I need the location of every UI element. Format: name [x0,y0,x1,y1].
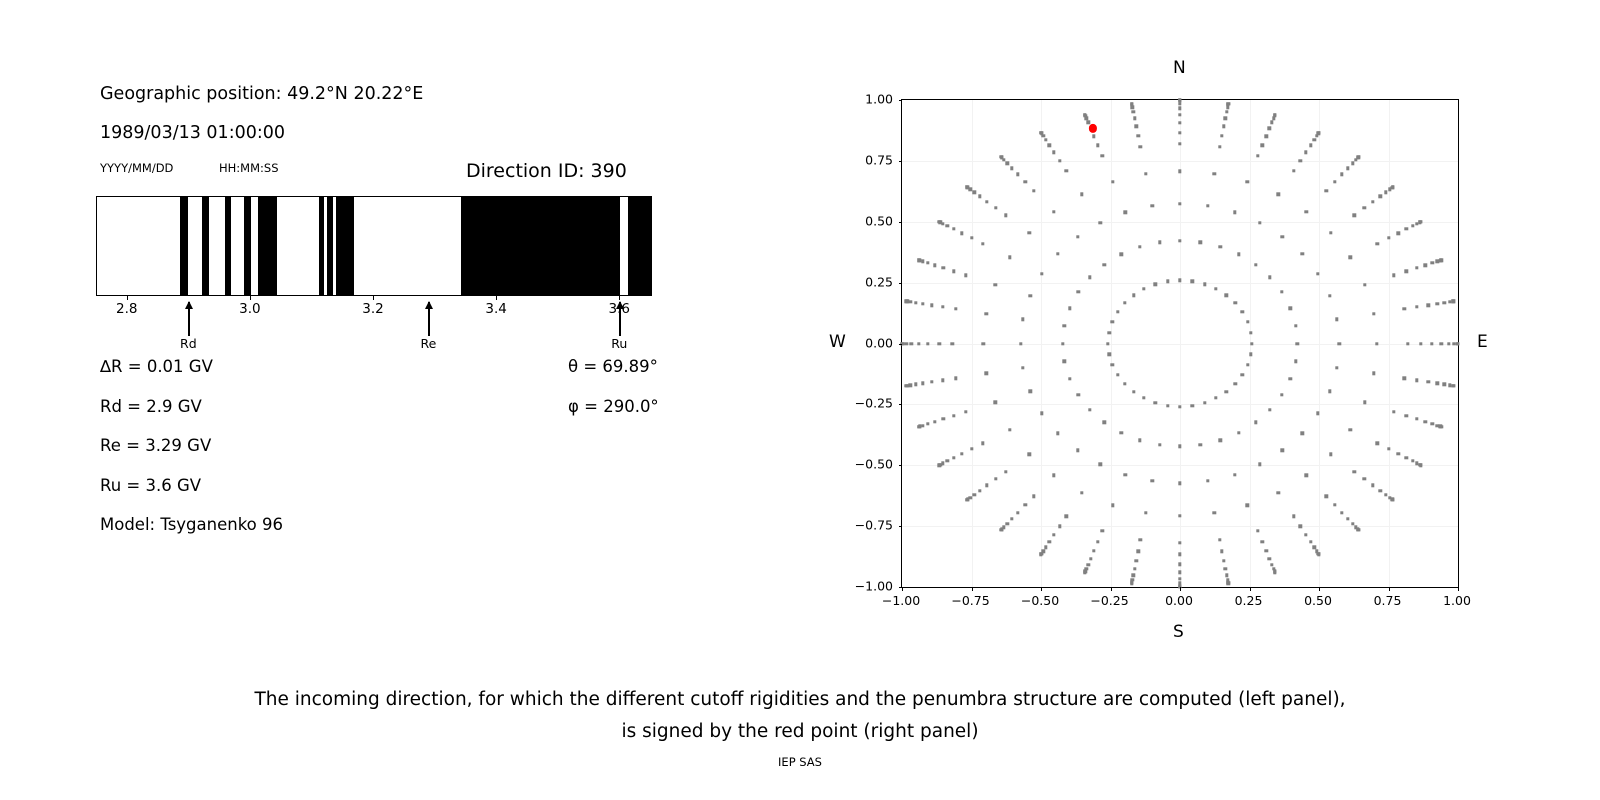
direction-point [1391,185,1394,188]
direction-point [1328,294,1331,297]
direction-point [1346,517,1349,520]
direction-point [1294,360,1297,363]
polar-y-tick [899,465,903,466]
direction-point [1100,529,1103,532]
direction-point [1028,390,1031,393]
polar-x-tick [972,587,973,591]
direction-point [1340,511,1343,514]
direction-point [1384,493,1387,496]
penumbra-forbidden-band [628,197,651,295]
polar-y-tick-label: 0.00 [843,335,893,350]
polar-x-tick [1389,587,1390,591]
direction-point [1277,491,1280,494]
direction-point [946,459,949,462]
direction-point [1452,384,1455,387]
direction-point [1296,342,1299,345]
direction-point [1363,401,1366,404]
polar-x-tick-label: 1.00 [1443,593,1471,608]
direction-point [1086,563,1089,566]
direction-point [921,382,924,385]
direction-point [1317,131,1320,134]
direction-point [952,414,955,417]
direction-point [1254,263,1257,266]
direction-point [994,206,997,209]
penumbra-panel: Geographic position: 49.2°N 20.22°E 1989… [0,0,800,680]
direction-point [970,447,973,450]
direction-point [1439,425,1442,428]
penumbra-param-left: Rd = 2.9 GV [100,397,202,416]
direction-point [1456,342,1459,345]
direction-point [938,342,941,345]
direction-point [1178,131,1181,134]
direction-point [1424,264,1427,267]
direction-point [1289,377,1292,380]
direction-point [1154,401,1157,404]
direction-point [1300,432,1303,435]
direction-point [1452,300,1455,303]
direction-point [1132,110,1135,113]
direction-point [1092,549,1095,552]
direction-point [970,236,973,239]
direction-point [1039,131,1042,134]
direction-point [1396,231,1399,234]
direction-point [1233,382,1236,385]
direction-point [1220,549,1223,552]
direction-point [1443,383,1446,386]
direction-point [1006,522,1009,525]
direction-point [1124,211,1127,214]
polar-x-tick-label: 0.75 [1374,593,1402,608]
direction-point [978,195,981,198]
polar-x-tick-label: 0.50 [1304,593,1332,608]
direction-point [1246,363,1249,366]
direction-point [1096,540,1099,543]
grid-line-horizontal [902,222,1458,223]
compass-north-label: N [1173,58,1186,78]
direction-point [1052,151,1055,154]
direction-point [1281,449,1284,452]
direction-point [1166,280,1169,283]
direction-point [1224,116,1227,119]
direction-point [1280,393,1283,396]
direction-point [1237,431,1240,434]
direction-point [1058,159,1061,162]
direction-point [1325,495,1328,498]
direction-point [1024,180,1027,183]
direction-point [1249,353,1252,356]
direction-point [1292,169,1295,172]
direction-point [964,410,967,413]
grid-line-horizontal [902,161,1458,162]
direction-point [1391,498,1394,501]
direction-point [1335,318,1338,321]
direction-point [1178,514,1181,517]
direction-point [1083,113,1086,116]
direction-point [1116,310,1119,313]
direction-point [1016,511,1019,514]
direction-point [1103,421,1106,424]
penumbra-forbidden-band [244,197,251,295]
direction-point [1329,231,1332,234]
direction-point [938,464,941,467]
direction-point [1270,563,1273,566]
polar-x-tick [1319,587,1320,591]
polar-x-tick-label: −0.75 [951,593,989,608]
polar-y-tick-label: 1.00 [843,92,893,107]
polar-direction-plot [901,99,1459,588]
direction-point [1372,372,1375,375]
direction-point [1309,540,1312,543]
direction-point [1044,545,1047,548]
direction-point [1264,134,1267,137]
direction-point [1443,301,1446,304]
penumbra-allowed-gap [454,197,461,295]
direction-point [1151,204,1154,207]
direction-point [1044,138,1047,141]
direction-point [930,303,933,306]
direction-point [909,383,912,386]
direction-point [1222,124,1225,127]
direction-point [1281,235,1284,238]
direction-point [1430,342,1433,345]
direction-point [1406,342,1409,345]
direction-point [1063,324,1066,327]
direction-point [1299,524,1302,527]
direction-point [965,498,968,501]
direction-point [1103,263,1106,266]
marker-label: Ru [611,336,627,351]
direction-point [1124,473,1127,476]
polar-y-tick [899,100,903,101]
polar-y-tick-label: −1.00 [843,579,893,594]
direction-point [926,342,929,345]
direction-point [921,424,924,427]
direction-point [1135,559,1138,562]
polar-x-tick [902,587,903,591]
direction-point [981,442,984,445]
direction-point [1136,134,1139,137]
direction-point [1064,169,1067,172]
polar-x-tick [1180,587,1181,591]
direction-point [973,191,976,194]
direction-point [1203,401,1206,404]
direction-point [1076,235,1079,238]
direction-point [1439,259,1442,262]
penumbra-param-right: θ = 69.89° [568,357,658,376]
penumbra-spectrum-bar [96,196,652,296]
polar-x-tick [1041,587,1042,591]
direction-point [952,270,955,273]
direction-point [1028,294,1031,297]
direction-point [960,452,963,455]
direction-point [1004,214,1007,217]
polar-y-tick [899,222,903,223]
direction-point [1048,540,1051,543]
direction-point [1227,102,1230,105]
direction-point [1277,193,1280,196]
direction-point [1178,239,1181,242]
direction-point [1415,417,1418,420]
direction-point [1199,443,1202,446]
direction-point [994,401,997,404]
direction-point [1099,463,1102,466]
direction-point [1431,261,1434,264]
selected-direction-point [1089,124,1097,132]
direction-point [1264,549,1267,552]
direction-point [1178,541,1181,544]
direction-point [1426,303,1429,306]
direction-point [1080,193,1083,196]
direction-point [1099,221,1102,224]
direction-point [1258,221,1261,224]
figure-caption: The incoming direction, for which the di… [0,684,1600,748]
polar-x-tick-label: −0.50 [1021,593,1059,608]
direction-point [1032,495,1035,498]
direction-point [1333,180,1336,183]
direction-point [1178,571,1181,574]
direction-point [1241,373,1244,376]
direction-point [1138,438,1141,441]
direction-point [1139,145,1142,148]
direction-point [954,307,957,310]
direction-point [1436,382,1439,385]
direction-point [985,312,988,315]
direction-point [1268,557,1271,560]
polar-y-tick [899,587,903,588]
direction-point [1313,138,1316,141]
polar-y-tick-label: 0.50 [843,213,893,228]
direction-point [1218,245,1221,248]
direction-point [1405,456,1408,459]
direction-point [1396,452,1399,455]
penumbra-forbidden-band [336,197,354,295]
direction-point [1212,172,1215,175]
geographic-position-label: Geographic position: 49.2°N 20.22°E [100,84,423,104]
penumbra-forbidden-band [327,197,333,295]
direction-point [1249,331,1252,334]
direction-point [1218,145,1221,148]
direction-point [1440,342,1443,345]
direction-point [905,384,908,387]
direction-point [1261,540,1264,543]
grid-line-horizontal [902,526,1458,527]
direction-point [905,300,908,303]
time-format-hint: HH:MM:SS [219,161,279,175]
direction-point [1010,167,1013,170]
polar-y-tick [899,161,903,162]
polar-x-tick-label: 0.00 [1165,593,1193,608]
direction-point [1309,144,1312,147]
direction-point [1246,180,1249,183]
direction-point [1338,342,1341,345]
direction-point [1415,266,1418,269]
direction-point [1061,342,1064,345]
polar-y-tick-label: −0.25 [843,396,893,411]
penumbra-forbidden-band [454,197,620,295]
direction-point [1178,142,1181,145]
direction-point [1019,342,1022,345]
direction-point [1008,428,1011,431]
direction-point [917,259,920,262]
direction-point [1426,380,1429,383]
direction-point [1349,428,1352,431]
direction-point [985,372,988,375]
direction-point [1292,515,1295,518]
penumbra-axis-tick-label: 3.0 [239,301,260,317]
caption-line-1: The incoming direction, for which the di… [0,684,1600,716]
direction-point [1424,420,1427,423]
direction-point [1096,144,1099,147]
direction-point [1086,121,1089,124]
penumbra-param-left: Model: Tsyganenko 96 [100,515,283,534]
penumbra-axis-tick [619,296,620,300]
direction-point [926,261,929,264]
direction-point [1116,373,1119,376]
direction-point [952,227,955,230]
direction-point [1447,342,1450,345]
direction-point [1154,283,1157,286]
direction-point [1040,412,1043,415]
direction-point [1415,305,1418,308]
direction-point [1316,412,1319,415]
direction-point [1371,200,1374,203]
direction-point [1349,256,1352,259]
direction-point [1224,567,1227,570]
penumbra-forbidden-band [319,197,324,295]
direction-point [1268,408,1271,411]
direction-point [1280,290,1283,293]
direction-point [1376,442,1379,445]
direction-point [1052,210,1055,213]
direction-point [1052,474,1055,477]
direction-point [982,342,985,345]
direction-point [1214,287,1217,290]
direction-point [1139,538,1142,541]
direction-point [1357,155,1360,158]
direction-point [1111,504,1114,507]
penumbra-forbidden-band [225,197,231,295]
direction-point [1405,414,1408,417]
direction-point [917,425,920,428]
direction-point [1142,396,1145,399]
direction-point [930,380,933,383]
direction-point [1178,279,1181,282]
direction-point [1111,320,1114,323]
direction-point [1142,287,1145,290]
direction-point [1363,283,1366,286]
direction-point [1100,154,1103,157]
direction-point [1325,189,1328,192]
direction-point [1214,396,1217,399]
direction-point [1006,162,1009,165]
direction-point [1028,231,1031,234]
grid-line-horizontal [902,283,1458,284]
direction-point [1056,432,1059,435]
direction-point [1261,144,1264,147]
direction-point [938,220,941,223]
polar-y-tick [899,404,903,405]
polar-x-tick-label: −0.25 [1090,593,1128,608]
direction-point [1120,253,1123,256]
direction-point [1411,459,1414,462]
direction-point [942,266,945,269]
penumbra-forbidden-band [180,197,188,295]
direction-point [1237,253,1240,256]
direction-point [1092,134,1095,137]
polar-y-tick-label: 0.25 [843,274,893,289]
direction-point [994,283,997,286]
penumbra-axis-tick [127,296,128,300]
direction-point [1405,270,1408,273]
direction-point [1048,144,1051,147]
direction-point [952,456,955,459]
direction-point [1077,393,1080,396]
direction-point [933,264,936,267]
direction-point [1178,107,1181,110]
direction-point [1024,503,1027,506]
arrow-up-icon [425,301,433,309]
direction-point [1178,202,1181,205]
direction-point [905,342,908,345]
direction-point [1268,276,1271,279]
direction-point [1212,511,1215,514]
polar-y-tick [899,283,903,284]
direction-point [1227,582,1230,585]
direction-point [1225,573,1228,576]
direction-point [964,274,967,277]
grid-line-horizontal [902,465,1458,466]
direction-point [1256,154,1259,157]
direction-point [1246,504,1249,507]
penumbra-forbidden-band [258,197,277,295]
polar-x-tick-label: 0.25 [1235,593,1263,608]
direction-point [1133,116,1136,119]
direction-point [909,300,912,303]
penumbra-param-left: ∆R = 0.01 GV [100,357,213,376]
direction-point [1052,533,1055,536]
direction-point [954,376,957,379]
direction-point [1000,155,1003,158]
direction-point [1107,353,1110,356]
penumbra-param-right: φ = 290.0° [568,397,659,416]
direction-point [1083,571,1086,574]
direction-point [973,493,976,496]
penumbra-axis-tick-label: 3.2 [362,301,383,317]
polar-y-tick [899,526,903,527]
direction-point [1021,366,1024,369]
direction-point [1419,342,1422,345]
direction-point [1346,167,1349,170]
direction-point [1340,173,1343,176]
marker-label: Re [420,336,436,351]
direction-point [985,484,988,487]
footer-credit: IEP SAS [0,755,1600,769]
direction-point [1132,573,1135,576]
direction-point [1313,545,1316,548]
direction-point [1136,549,1139,552]
direction-point [1357,528,1360,531]
direction-point [1392,410,1395,413]
direction-point [1088,408,1091,411]
direction-point [1222,559,1225,562]
direction-point [1178,121,1181,124]
direction-point [1039,553,1042,556]
direction-point [1403,376,1406,379]
direction-point [1010,517,1013,520]
direction-point [1225,294,1228,297]
direction-point [1016,173,1019,176]
direction-point [951,342,954,345]
